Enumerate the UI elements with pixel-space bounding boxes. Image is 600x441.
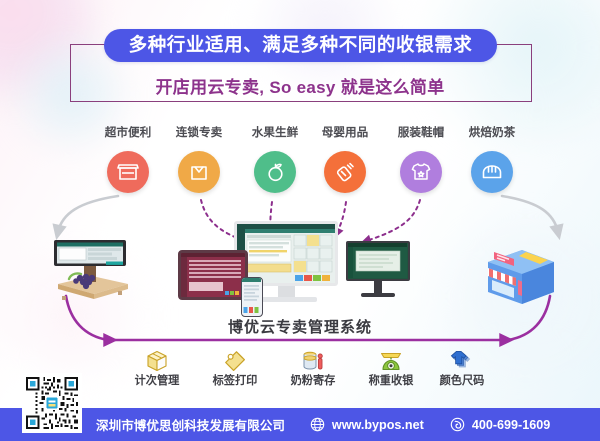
monitor-stand-base bbox=[361, 293, 395, 297]
imac-stand-neck bbox=[278, 286, 295, 297]
tablet-device bbox=[178, 250, 248, 300]
retail-store-illustration bbox=[476, 236, 560, 312]
shopping-bag-icon bbox=[178, 151, 220, 193]
feature-label: 计次管理 bbox=[114, 376, 200, 387]
phone-icon bbox=[450, 417, 465, 432]
company-name: 深圳市博优思创科技发展有限公司 bbox=[96, 415, 285, 434]
feature-item-milk-powder-storage[interactable]: 奶粉寄存 bbox=[270, 349, 356, 387]
footer-bar: 深圳市博优思创科技发展有限公司 www.bypos.net 400-699-16… bbox=[0, 408, 600, 441]
monitor-screen bbox=[346, 241, 410, 281]
system-name: 博优云专卖管理系统 bbox=[0, 316, 600, 337]
box-cube-icon bbox=[114, 349, 200, 373]
monitor-stand-neck bbox=[374, 281, 382, 293]
feature-label: 奶粉寄存 bbox=[270, 376, 356, 387]
qr-code[interactable] bbox=[22, 373, 82, 433]
category-item-bakery-tea[interactable]: 烘焙奶茶 bbox=[446, 127, 538, 193]
subtitle: 开店用云专卖, So easy 就是这么简单 bbox=[0, 73, 600, 98]
feature-item-label-printing[interactable]: 标签打印 bbox=[192, 349, 278, 387]
globe-icon bbox=[310, 417, 325, 432]
bread-loaf-icon bbox=[471, 151, 513, 193]
milk-powder-can-icon bbox=[270, 349, 356, 373]
feature-item-count-management[interactable]: 计次管理 bbox=[114, 349, 200, 387]
feature-row: 计次管理 标签打印 奶粉寄存 bbox=[0, 349, 600, 391]
phone-screen bbox=[241, 277, 263, 317]
feature-item-color-size[interactable]: 颜色尺码 bbox=[419, 349, 505, 387]
pos-weighing-scale-illustration bbox=[48, 232, 134, 304]
phone-number[interactable]: 400-699-1609 bbox=[472, 418, 550, 432]
apple-fruit-icon bbox=[254, 151, 296, 193]
smartphone-device bbox=[241, 277, 263, 317]
qr-code-graphic bbox=[24, 375, 80, 431]
feature-label: 标签打印 bbox=[192, 376, 278, 387]
storefront-icon bbox=[107, 151, 149, 193]
t-shirt-icon bbox=[400, 151, 442, 193]
baby-bottle-icon bbox=[324, 151, 366, 193]
tablet-screen bbox=[178, 250, 248, 300]
monitor-device bbox=[346, 241, 410, 297]
poster-canvas: 多种行业适用、满足多种不同的收银需求 开店用云专卖, So easy 就是这么简… bbox=[0, 0, 600, 441]
system-name-text: 博优云专卖管理系统 bbox=[228, 319, 372, 336]
headline-banner: 多种行业适用、满足多种不同的收银需求 bbox=[104, 29, 497, 62]
subtitle-text: 开店用云专卖, So easy 就是这么简单 bbox=[155, 78, 444, 97]
category-row: 超市便利 连锁专卖 水果生鲜 bbox=[0, 127, 600, 205]
website-text[interactable]: www.bypos.net bbox=[332, 418, 424, 432]
feature-label: 颜色尺码 bbox=[419, 376, 505, 387]
clothing-color-size-icon bbox=[419, 349, 505, 373]
imac-stand-base bbox=[255, 297, 317, 302]
price-tag-icon bbox=[192, 349, 278, 373]
category-label: 烘焙奶茶 bbox=[446, 127, 538, 139]
device-cluster bbox=[178, 221, 410, 321]
headline-text: 多种行业适用、满足多种不同的收银需求 bbox=[129, 36, 473, 55]
footer-content: 深圳市博优思创科技发展有限公司 www.bypos.net 400-699-16… bbox=[96, 408, 600, 441]
